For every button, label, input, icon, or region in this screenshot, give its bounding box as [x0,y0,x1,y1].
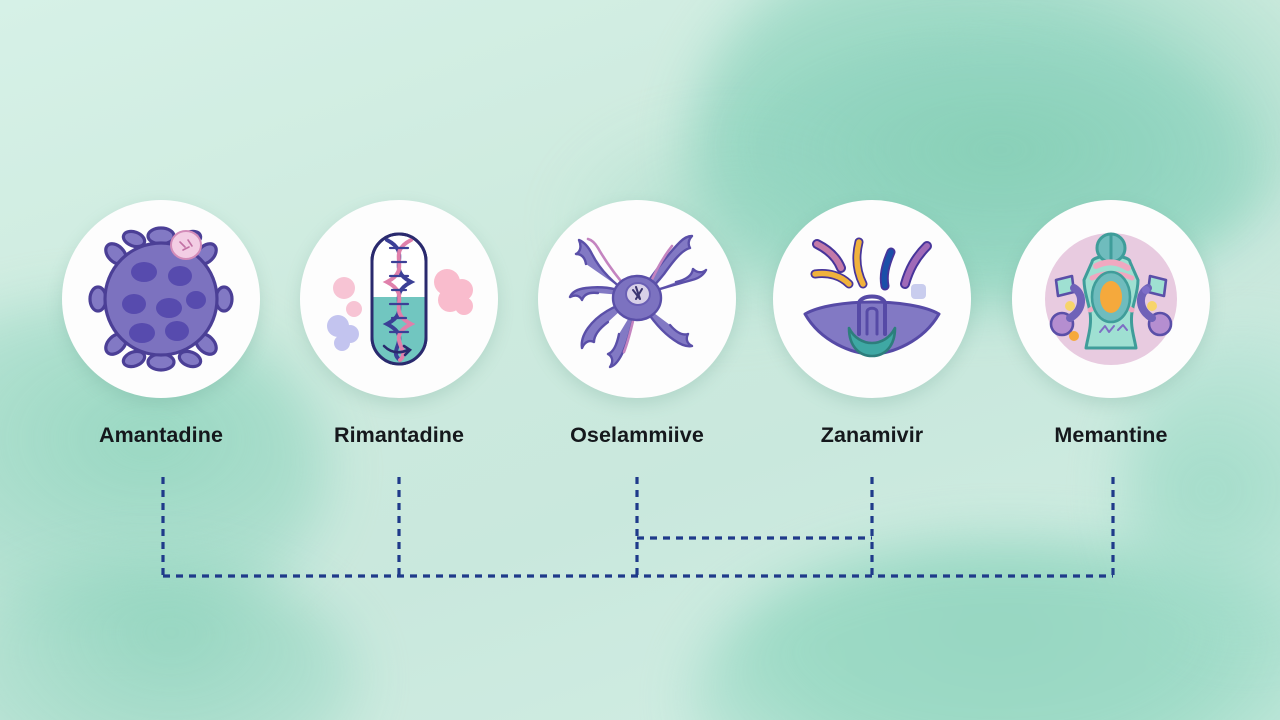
connector-lines [0,0,1280,720]
diagram-canvas: Amantadine [0,0,1280,720]
